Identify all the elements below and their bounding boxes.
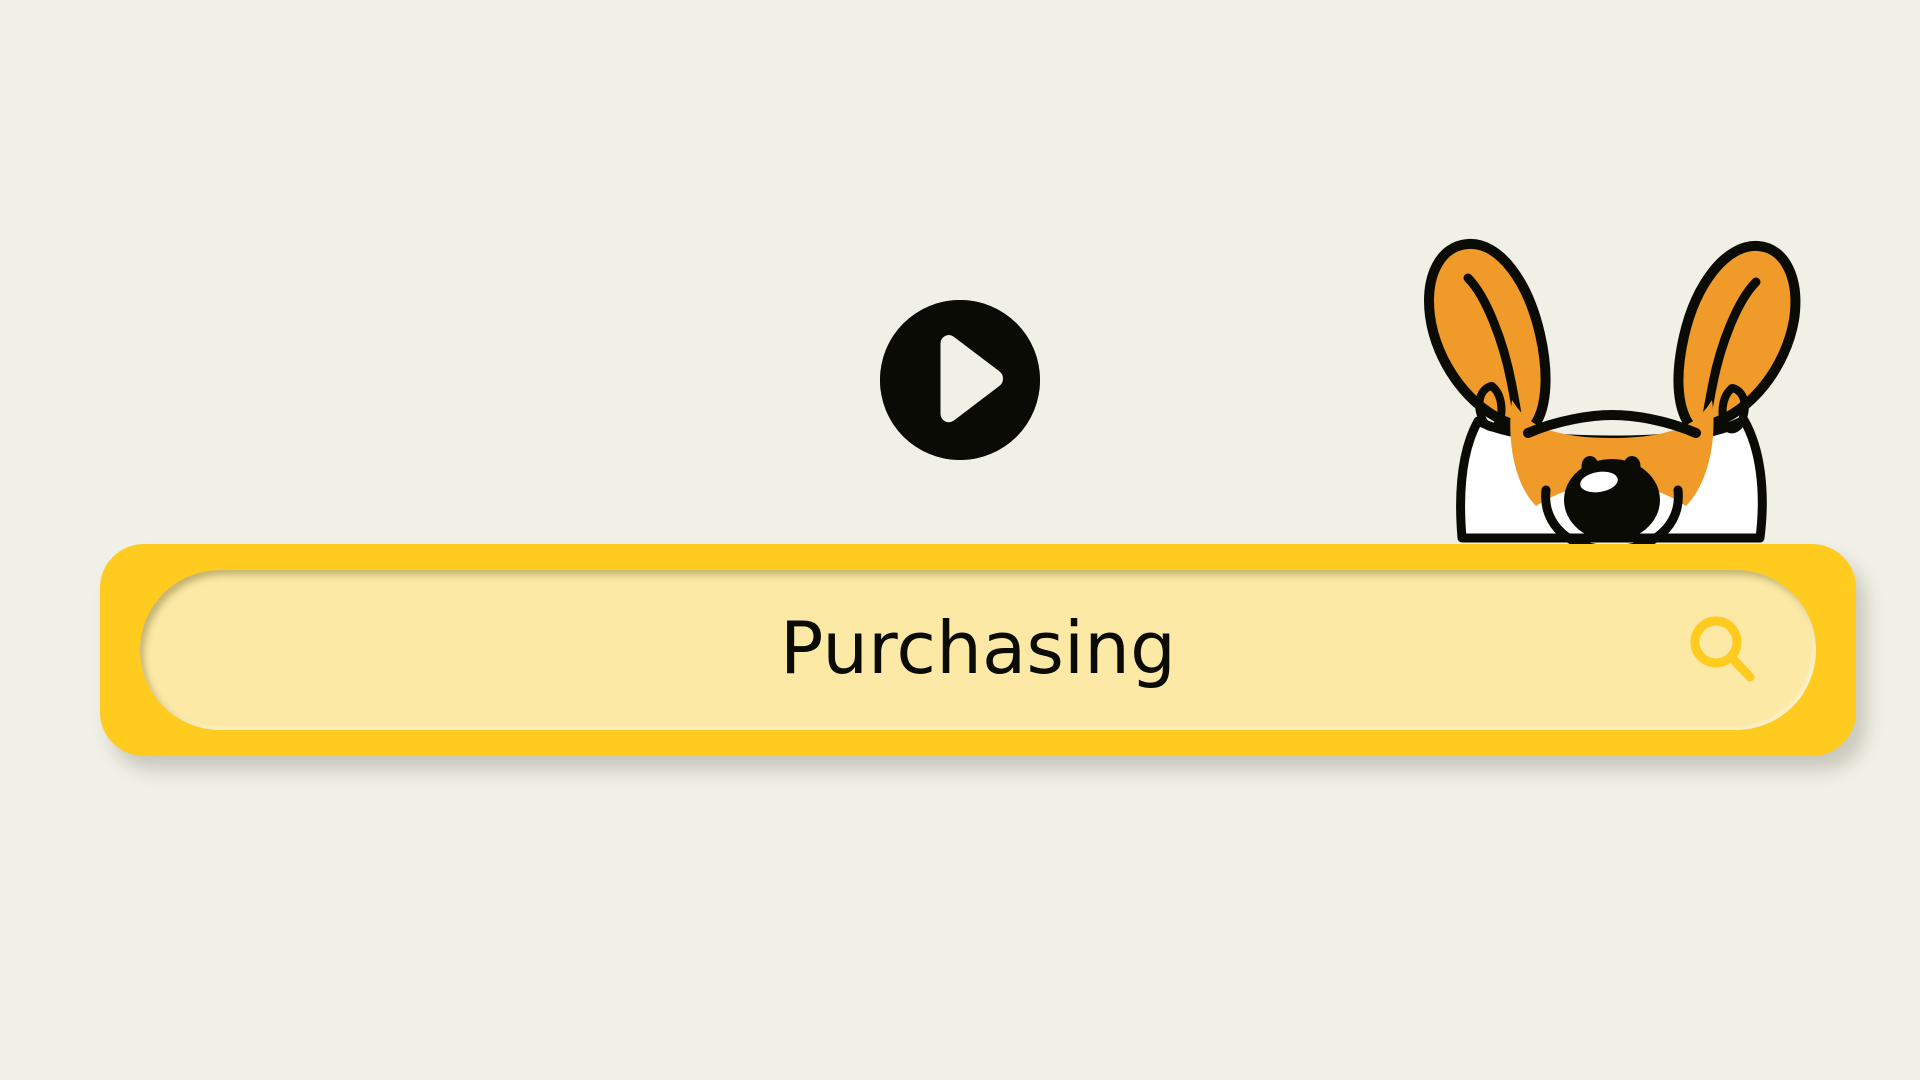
search-bar[interactable]: Purchasing bbox=[100, 544, 1856, 756]
magnifier-icon bbox=[1686, 613, 1760, 687]
search-input-value: Purchasing bbox=[780, 612, 1176, 684]
page-canvas: Purchasing bbox=[0, 0, 1920, 1080]
search-input[interactable]: Purchasing bbox=[140, 570, 1816, 730]
fennec-fox-mascot bbox=[1400, 238, 1820, 568]
play-button[interactable] bbox=[880, 300, 1040, 460]
search-submit-button[interactable] bbox=[1686, 613, 1760, 687]
